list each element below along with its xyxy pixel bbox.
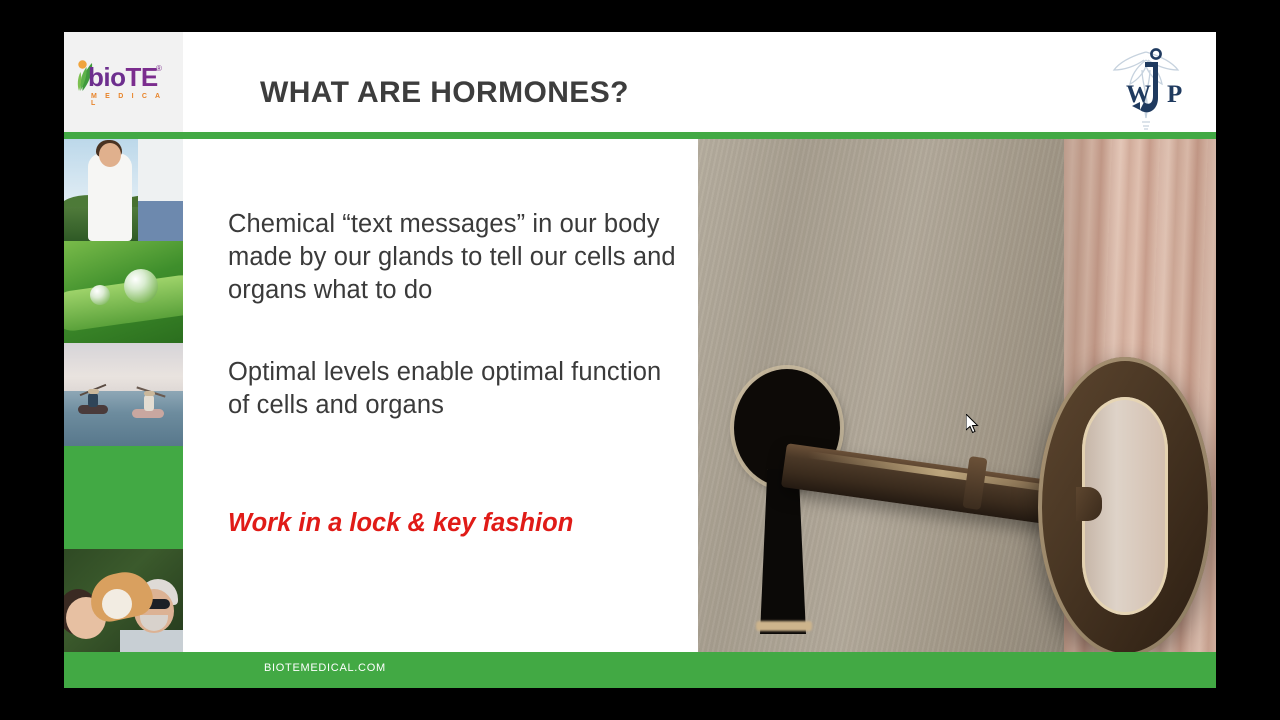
biote-medical-logo: bioTE ® M E D I C A L (74, 58, 174, 110)
slide-body-text: Chemical “text messages” in our body mad… (183, 139, 698, 652)
biote-wordmark: bioTE (88, 64, 158, 90)
lock-and-key-photo (698, 139, 1216, 652)
biote-te-text: TE (126, 62, 158, 92)
header-divider (64, 132, 1216, 139)
registered-trademark-mark: ® (156, 64, 162, 73)
video-player-viewport: bioTE ® M E D I C A L WHAT ARE HORMONES?… (0, 0, 1280, 720)
body-paragraph-1: Chemical “text messages” in our body mad… (228, 208, 688, 307)
thumb-couple-with-dog (64, 549, 183, 652)
thumb-couple-holding-hands (64, 139, 183, 241)
highlight-statement: Work in a lock & key fashion (228, 507, 688, 540)
thumb-dew-drops-on-leaf (64, 241, 183, 343)
body-paragraph-2: Optimal levels enable optimal function o… (228, 356, 688, 422)
thumb-kayakers-on-water (64, 343, 183, 446)
slide-footer: BIOTEMEDICAL.COM (64, 652, 1216, 688)
thumb-green-block (64, 446, 183, 549)
wjp-caduceus-logo: W P (1098, 40, 1194, 132)
slide-header: bioTE ® M E D I C A L WHAT ARE HORMONES?… (64, 32, 1216, 132)
biote-tagline: M E D I C A L (91, 93, 174, 107)
biote-bio-text: bio (88, 62, 126, 92)
presentation-slide: bioTE ® M E D I C A L WHAT ARE HORMONES?… (64, 32, 1216, 688)
keyhole-slot (760, 469, 806, 634)
thumbnail-strip (64, 139, 183, 652)
brand-logo-panel: bioTE ® M E D I C A L (64, 32, 183, 132)
footer-website: BIOTEMEDICAL.COM (264, 662, 386, 674)
page-title: WHAT ARE HORMONES? (260, 76, 629, 110)
wjp-letter-p: P (1167, 81, 1182, 108)
